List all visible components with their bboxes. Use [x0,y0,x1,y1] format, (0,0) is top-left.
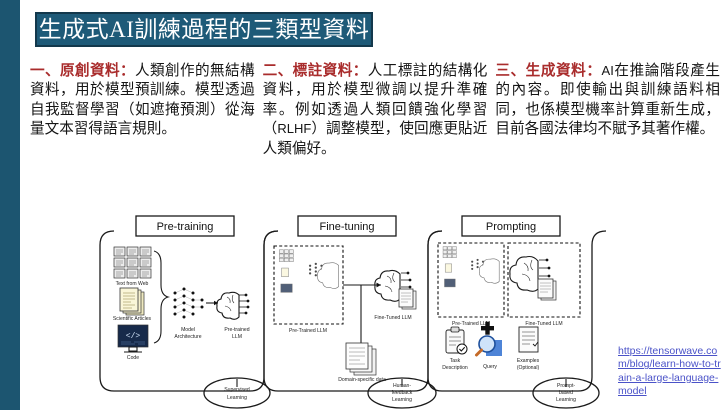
text-from-web-icon [114,247,151,278]
fine-tuned-llm-brain-icon [375,270,416,309]
panel-3-node-2-label: Query [483,364,497,370]
column-3-heading: 三、生成資料： [495,63,601,79]
panel-prompting: Prompting [428,216,606,408]
scientific-articles-icon [120,288,144,315]
panel-3-node-1-label-b: Description [442,365,468,371]
column-2-heading: 二、標註資料： [263,63,368,79]
panel-3-learning-label-b: based [559,390,573,396]
panel-1-title: Pre-training [157,221,214,233]
task-description-icon [446,327,467,354]
column-labeled-data: 二、標註資料：人工標註的結構化資料，用於模型微調以提升準確率。例如透過人類回饋強… [263,62,488,192]
arrow-to-llm [206,301,218,305]
panel-1-input-2-label: Scientific Articles [113,316,152,322]
panel-2-learning-label-b: feedback [392,390,413,396]
query-icon [477,336,503,356]
column-generated-data: 三、生成資料：AI在推論階段產生的內容。即使輸出與訓練語料相同，也係模型機率計算… [495,62,720,192]
panel-1-node-2-label-a: Pre-trained [224,327,249,333]
svg-text:</>: </> [126,332,141,341]
panel-1-learning-label-b: Learning [227,395,247,401]
panel-fine-tuning: Fine-tuning [264,216,442,408]
page-title: 生成式AI訓練過程的三類型資料 [39,18,370,41]
panel-1-node-1-label-a: Model [181,327,195,333]
panel-2-title: Fine-tuning [319,221,374,233]
panel-3-title: Prompting [486,221,536,233]
panel-3-input-2-label: Fine-Tuned LLM [525,321,562,327]
panel-3-learning-label-a: Prompt- [557,383,575,389]
column-2-body-latin: RLHF [277,121,311,136]
panel-1-node-1-label-b: Architecture [174,334,201,340]
code-icon: </> [118,325,148,352]
panel-3-learning-label-c: Learning [556,397,576,403]
column-1-heading: 一、原創資料： [30,63,135,79]
panel-1-input-1-label: Text from Web [116,281,149,287]
examples-icon [519,327,538,352]
slide-title-band: 生成式AI訓練過程的三類型資料 [35,12,373,47]
panel-1-learning-label-a: Supervised [224,387,250,393]
source-link[interactable]: https://tensorwave.com/blog/learn-how-to… [618,345,722,399]
panel-3-node-3-label-a: Examples [517,358,540,364]
panel-1-input-3-label: Code [127,355,139,361]
panel-pre-training: Pre-training Text from Web [100,216,278,408]
column-original-data: 一、原創資料：人類創作的無結構資料，用於模型預訓練。模型透過自我監督學習（如遮掩… [30,62,255,192]
llm-training-pipeline-figure: .stk{fill:none;stroke:#1a1a1a;stroke-wid… [96,213,606,409]
panel-2-input-1-label: Pre-Trained LLM [289,328,327,334]
pre-trained-llm-brain-icon [217,292,250,319]
slide-canvas: 生成式AI訓練過程的三類型資料 一、原創資料：人類創作的無結構資料，用於模型預訓… [0,0,728,410]
prompting-brain-icon [510,257,556,301]
column-3-body-latin: AI [602,63,614,78]
panel-2-learning-label-c: Learning [392,397,412,403]
left-accent-bar [0,0,20,410]
panel-3-node-3-label-b: (Optional) [517,365,540,371]
panel-2-node-1-label: Fine-Tuned LLM [374,315,411,321]
three-column-text: 一、原創資料：人類創作的無結構資料，用於模型預訓練。模型透過自我監督學習（如遮掩… [30,62,720,192]
model-architecture-icon [174,288,204,319]
domain-specific-data-icon [346,343,376,375]
panel-2-learning-label-a: Human- [393,383,411,389]
panel-3-node-1-label-a: Task [450,358,461,364]
panel-1-node-2-label-b: LLM [232,334,242,340]
